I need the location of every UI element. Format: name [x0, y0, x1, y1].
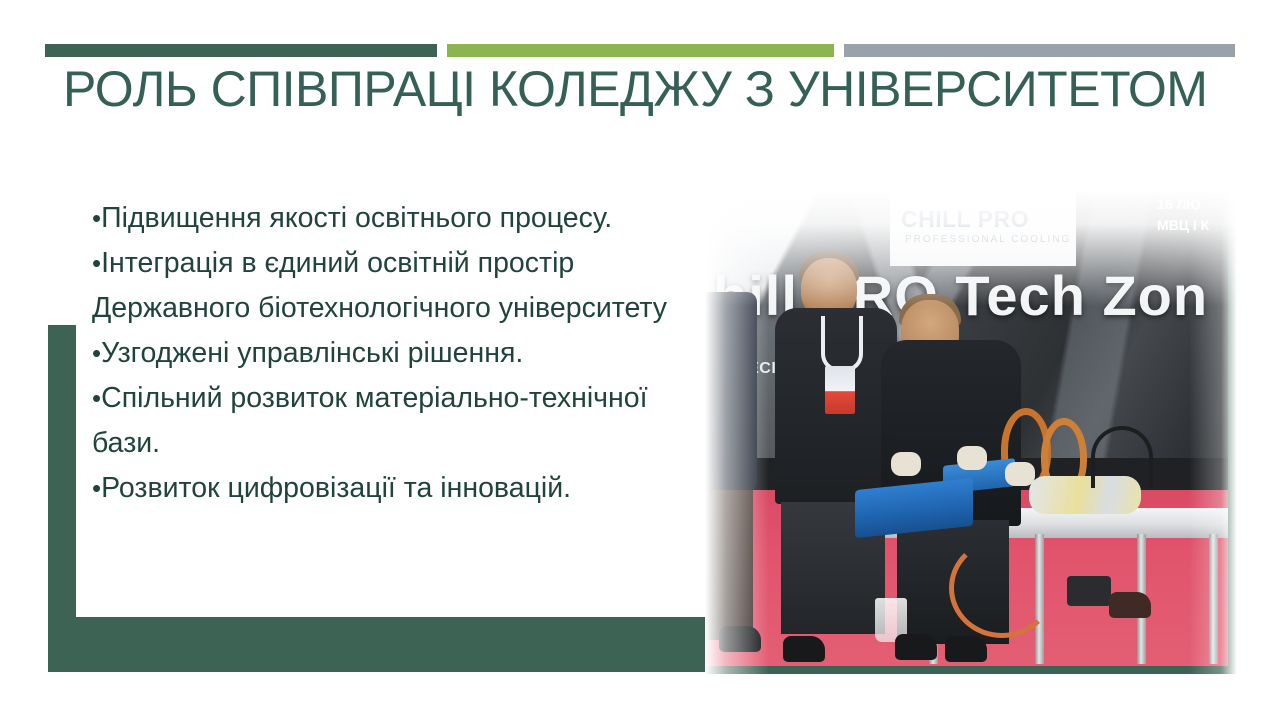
decor-bar-green [447, 44, 834, 57]
photo-boot [945, 636, 987, 662]
list-item-text: Інтеграція в єдиний освітній простір Дер… [92, 247, 667, 324]
photo-person-background [705, 292, 757, 492]
bullet-list: •Підвищення якості освітнього процесу. •… [92, 196, 704, 511]
bullet-marker: • [92, 248, 101, 278]
photo-frame-right [1228, 190, 1237, 674]
bullet-marker: • [92, 203, 101, 233]
photo-logo-subtext: PROFESSIONAL COOLING [905, 234, 1075, 245]
bullet-marker: • [92, 338, 101, 368]
photo-glove [957, 446, 987, 470]
photo-boot [1109, 592, 1151, 618]
decor-bar-gray [844, 44, 1235, 57]
list-item: •Спільний розвиток матеріально-технічної… [92, 376, 704, 466]
list-item-text: Розвиток цифровізації та інновацій. [101, 472, 571, 504]
photo-logo-text: CHILL PRO [901, 206, 1071, 233]
list-item: •Розвиток цифровізації та інновацій. [92, 466, 704, 511]
bullet-marker: • [92, 383, 101, 413]
photo-student-left-lanyard [821, 316, 863, 372]
photo-frame-bottom [705, 666, 1237, 674]
photo-glove [1005, 462, 1035, 486]
decor-bar-dark-green [45, 44, 437, 57]
photo-person-background-legs [705, 490, 753, 640]
photo-glove [891, 452, 921, 476]
slide-title: РОЛЬ СПІВПРАЦІ КОЛЕДЖУ З УНІВЕРСИТЕТОМ [63, 63, 1243, 116]
photo-table-leg [1209, 534, 1218, 664]
photo-boot [719, 626, 761, 652]
photo-hose [949, 538, 1055, 638]
photo-student-left-badge [825, 366, 855, 414]
slide-photo: hill PRO Tech Zon ОФЕСІ ЬКОТЕМПЕРАТУРНОЇ… [705, 190, 1237, 674]
photo-boot [895, 634, 937, 660]
photo-vacuum-pump [1067, 576, 1111, 606]
photo-right-sign-line2: МВЦ І К [1157, 215, 1237, 236]
list-item: •Підвищення якості освітнього процесу. [92, 196, 704, 241]
photo-right-sign: 16 ЛЮ МВЦ І К [1157, 194, 1237, 260]
photo-boot [783, 636, 825, 662]
photo-work-lamp [1091, 426, 1153, 488]
list-item-text: Підвищення якості освітнього процесу. [101, 202, 612, 234]
bullet-marker: • [92, 473, 101, 503]
presentation-slide: РОЛЬ СПІВПРАЦІ КОЛЕДЖУ З УНІВЕРСИТЕТОМ •… [0, 0, 1280, 720]
photo-right-sign-line1: 16 ЛЮ [1157, 194, 1237, 215]
list-item-text: Узгоджені управлінські рішення. [101, 337, 523, 369]
list-item-text: Спільний розвиток матеріально-технічної … [92, 382, 648, 459]
list-item: •Узгоджені управлінські рішення. [92, 331, 704, 376]
list-item: •Інтеграція в єдиний освітній простір Де… [92, 241, 704, 331]
